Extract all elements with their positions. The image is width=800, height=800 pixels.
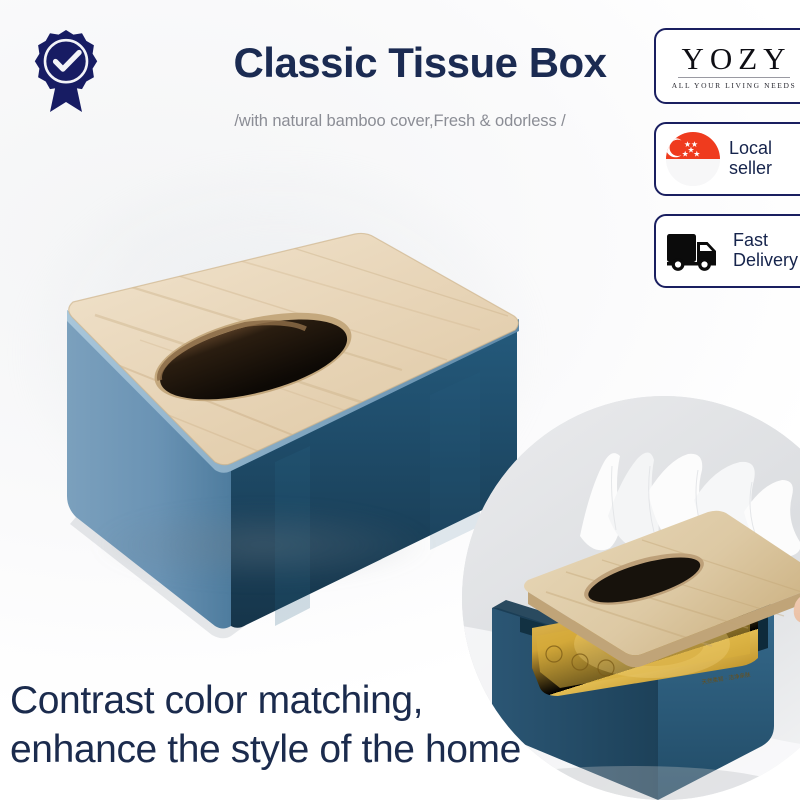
- fast-delivery-line1: Fast: [733, 231, 798, 251]
- footer-headline: Contrast color matching, enhance the sty…: [10, 677, 530, 774]
- brand-divider: [678, 77, 790, 78]
- local-seller-badge: Local seller: [654, 122, 800, 196]
- verified-rosette-icon: [28, 26, 104, 116]
- local-seller-line2: seller: [729, 159, 772, 179]
- delivery-truck-icon: [666, 228, 724, 274]
- local-seller-label: Local seller: [729, 139, 772, 179]
- product-shadow: [28, 490, 498, 600]
- fast-delivery-badge: Fast Delivery: [654, 214, 800, 288]
- brand-tagline: ALL YOUR LIVING NEEDS: [672, 81, 797, 90]
- product-photo-main: [10, 190, 530, 640]
- local-seller-line1: Local: [729, 139, 772, 159]
- page-subtitle: /with natural bamboo cover,Fresh & odorl…: [190, 112, 610, 131]
- brand-wordmark: YOZY: [676, 43, 791, 74]
- page-title: Classic Tissue Box: [200, 40, 640, 86]
- badge-column: YOZY ALL YOUR LIVING NEEDS: [654, 28, 800, 288]
- brand-logo-badge: YOZY ALL YOUR LIVING NEEDS: [654, 28, 800, 104]
- footer-line-2: enhance the style of the home: [10, 726, 530, 774]
- footer-line-1: Contrast color matching,: [10, 677, 530, 725]
- fast-delivery-line2: Delivery: [733, 251, 798, 271]
- fast-delivery-label: Fast Delivery: [733, 231, 798, 271]
- singapore-flag-icon: [666, 132, 720, 186]
- product-listing-image: Classic Tissue Box /with natural bamboo …: [0, 0, 800, 800]
